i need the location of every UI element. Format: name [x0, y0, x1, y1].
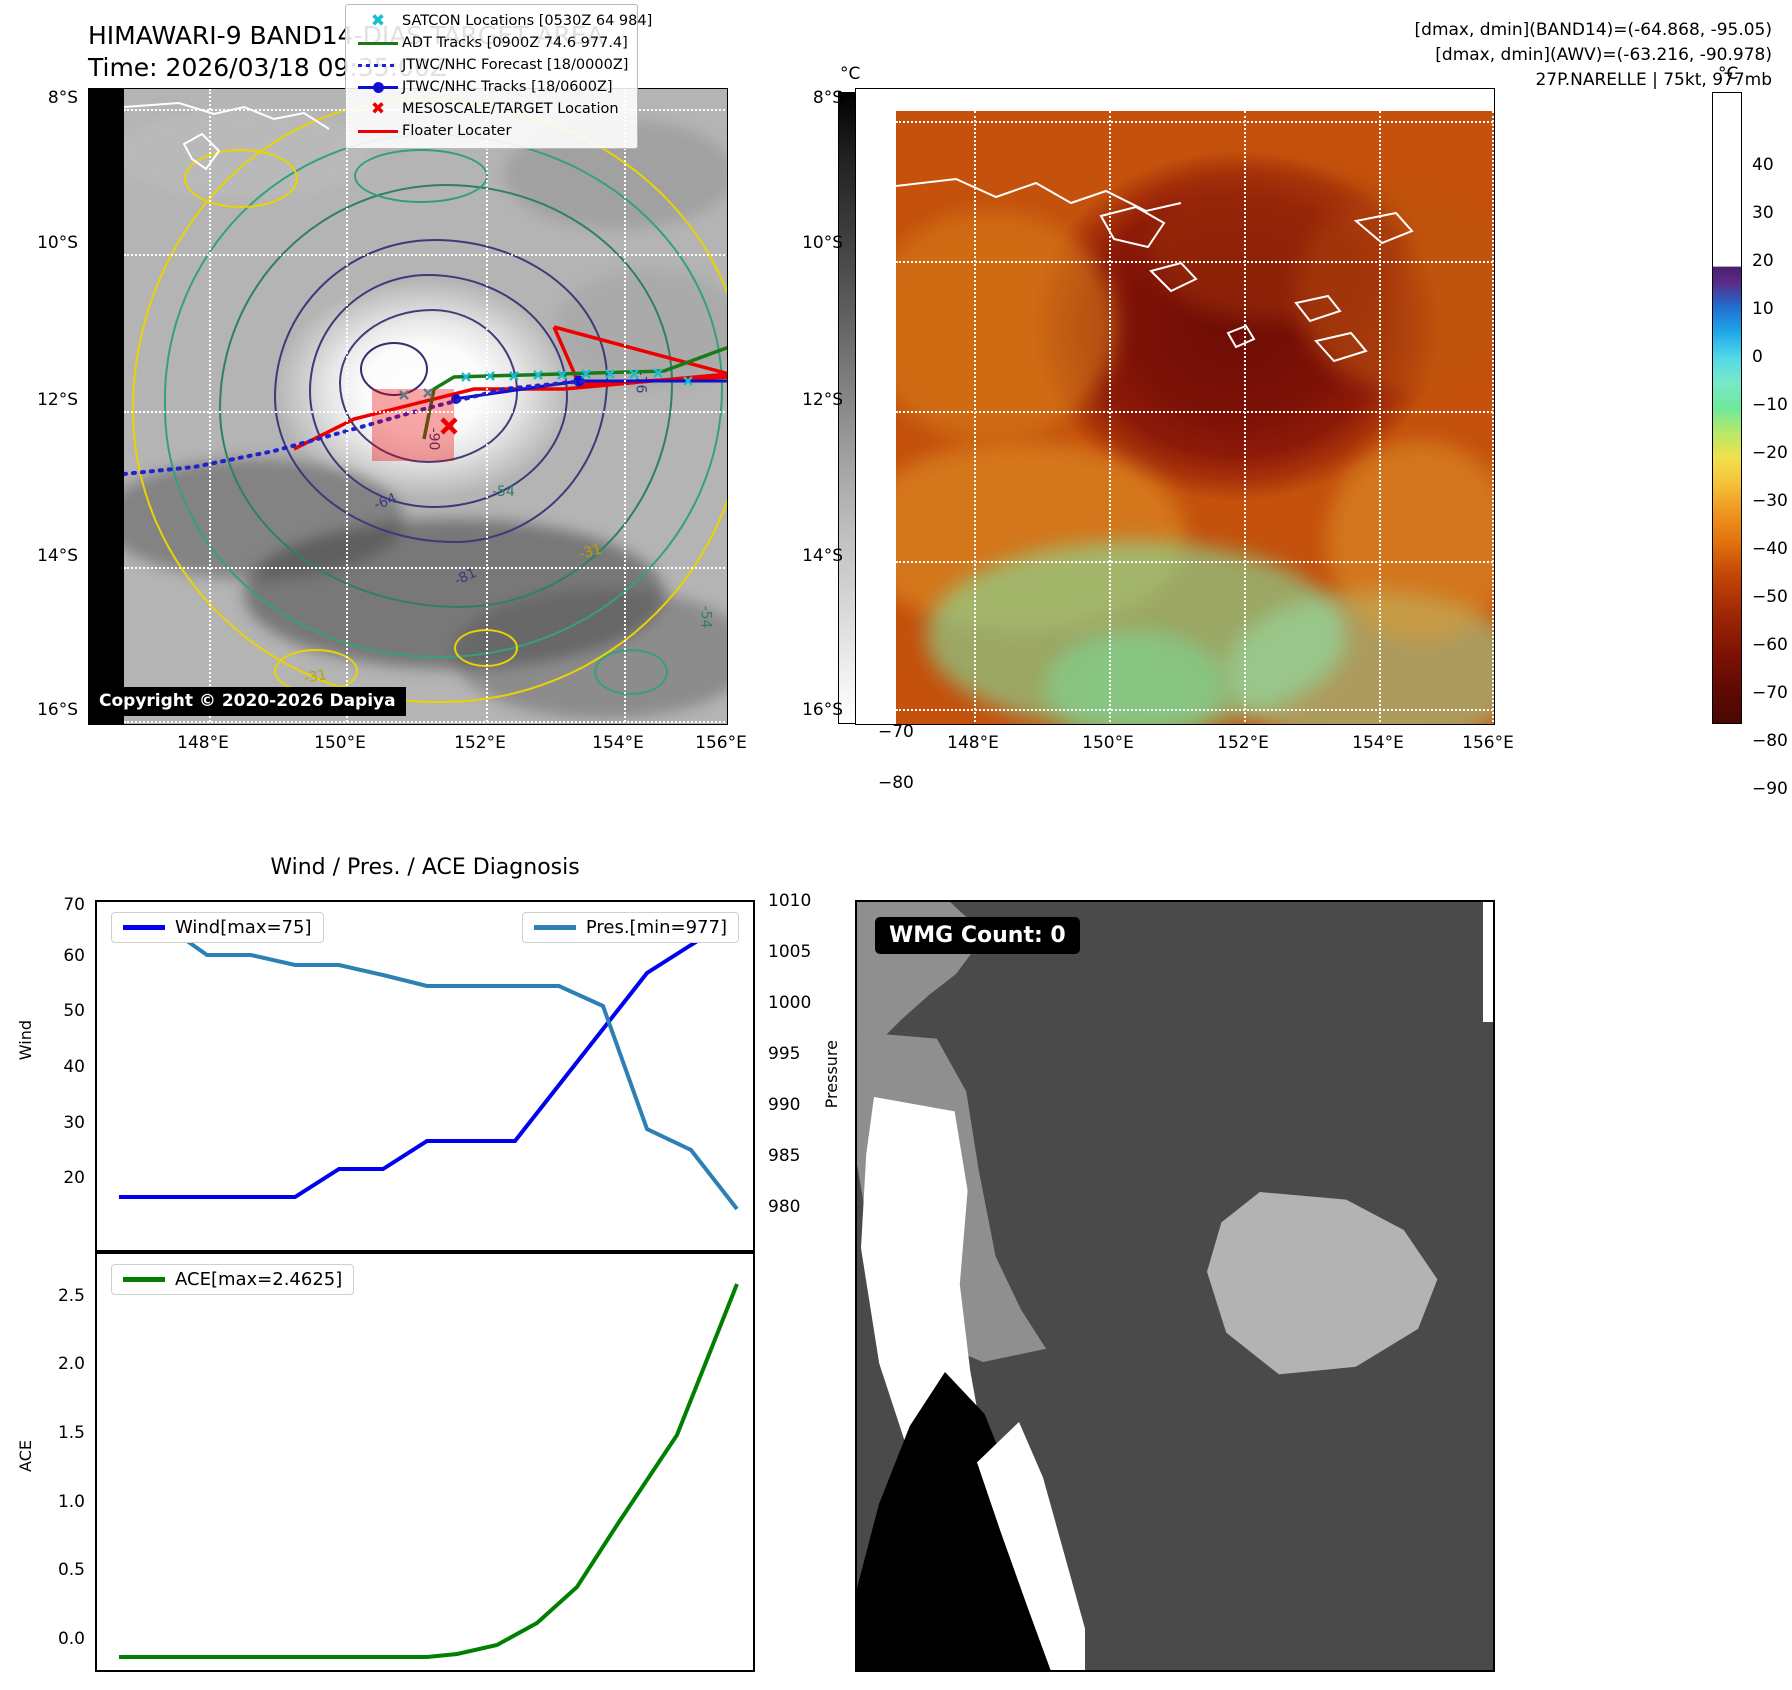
jtwc-forecast-path — [124, 381, 584, 474]
wind-legend[interactable]: Wind[max=75] — [111, 912, 324, 943]
tr-lon-148e: 148°E — [928, 733, 1018, 753]
ace-legend-label: ACE[max=2.4625] — [175, 1269, 342, 1290]
ace-legend[interactable]: ACE[max=2.4625] — [111, 1264, 354, 1295]
wind-axis-label: Wind — [16, 1020, 35, 1060]
map-legend[interactable]: ✖ SATCON Locations [0530Z 64 984] ADT Tr… — [345, 4, 638, 149]
legend-label-adt: ADT Tracks [0900Z 74.6 977.4] — [402, 35, 628, 51]
ace-tick-2-5: 2.5 — [30, 1286, 85, 1306]
ace-color-swatch — [123, 1277, 165, 1282]
dotted-line-icon — [354, 64, 402, 67]
enhanced-ir-image — [896, 111, 1495, 725]
tr-lon-150e: 150°E — [1063, 733, 1153, 753]
wind-color-swatch — [123, 925, 165, 930]
tl-lon-150e: 150°E — [295, 733, 385, 753]
legend-item-satcon[interactable]: ✖ SATCON Locations [0530Z 64 984] — [354, 10, 629, 32]
ace-chart[interactable]: ACE[max=2.4625] — [95, 1252, 755, 1672]
tl-lat-10s: 10°S — [10, 233, 78, 253]
legend-item-adt[interactable]: ADT Tracks [0900Z 74.6 977.4] — [354, 32, 629, 54]
tl-lon-152e: 152°E — [435, 733, 525, 753]
tr-cb-40: 40 — [1752, 155, 1774, 175]
pres-tick-1000: 1000 — [768, 993, 811, 1013]
tl-lat-12s: 12°S — [10, 390, 78, 410]
wind-tick-20: 20 — [30, 1168, 85, 1188]
coastline-overlay-ir — [896, 111, 1495, 725]
wmg-count-badge: WMG Count: 0 — [875, 917, 1080, 954]
solid-line-icon — [354, 42, 402, 45]
ace-axis-label: ACE — [16, 1440, 35, 1472]
tr-cb-0: 0 — [1752, 347, 1763, 367]
ace-series-line — [119, 1284, 737, 1657]
pressure-legend[interactable]: Pres.[min=977] — [522, 912, 739, 943]
tr-colorbar-unit: °C — [1718, 64, 1738, 84]
ace-tick-2-0: 2.0 — [30, 1354, 85, 1374]
legend-item-floater[interactable]: Floater Locater — [354, 120, 629, 142]
pres-tick-980: 980 — [768, 1197, 800, 1217]
wind-pressure-chart[interactable]: Wind[max=75] Pres.[min=977] — [95, 900, 755, 1252]
tl-cb-m70: −70 — [878, 722, 914, 742]
target-area-box — [372, 389, 454, 461]
legend-label-satcon: SATCON Locations [0530Z 64 984] — [402, 13, 652, 29]
legend-label-forecast: JTWC/NHC Forecast [18/0000Z] — [402, 57, 628, 73]
dashboard-root: HIMAWARI-9 BAND14-DIAS TARGET AREA Time:… — [0, 0, 1792, 1690]
wind-tick-40: 40 — [30, 1057, 85, 1077]
tr-lon-154e: 154°E — [1333, 733, 1423, 753]
line-with-dot-icon — [354, 86, 402, 89]
wind-tick-70: 70 — [30, 895, 85, 915]
tr-lon-156e: 156°E — [1443, 733, 1533, 753]
tr-lat-14s: 14°S — [775, 546, 843, 566]
tl-lat-14s: 14°S — [10, 546, 78, 566]
ace-tick-1-0: 1.0 — [30, 1492, 85, 1512]
ir-grayscale-image: -76 -81 -90 -64 -54 -31 -31 -54 — [124, 89, 728, 725]
ace-tick-0-0: 0.0 — [30, 1629, 85, 1649]
header-dmax-awv: [dmax, dmin](AWV)=(-63.216, -90.978) — [1435, 45, 1772, 65]
tr-cb-m10: −10 — [1752, 395, 1788, 415]
enhanced-ir-map[interactable] — [855, 88, 1495, 725]
tl-lon-154e: 154°E — [573, 733, 663, 753]
legend-item-mesoscale[interactable]: ✖ MESOSCALE/TARGET Location — [354, 98, 629, 120]
tr-cb-m30: −30 — [1752, 491, 1788, 511]
tr-lat-12s: 12°S — [775, 390, 843, 410]
solid-line-red-icon — [354, 130, 402, 133]
wind-legend-label: Wind[max=75] — [175, 917, 312, 938]
wmg-panel[interactable]: WMG Count: 0 — [855, 900, 1495, 1672]
wmg-gray-region-right — [1207, 1192, 1447, 1382]
pressure-color-swatch — [534, 925, 576, 930]
pres-tick-1005: 1005 — [768, 942, 811, 962]
tr-cb-30: 30 — [1752, 203, 1774, 223]
himawari-band14-map[interactable]: -76 -81 -90 -64 -54 -31 -31 -54 — [88, 88, 728, 725]
tr-cb-m60: −60 — [1752, 635, 1788, 655]
tr-cb-20: 20 — [1752, 251, 1774, 271]
tr-cb-m80: −80 — [1752, 731, 1788, 751]
tl-colorbar-unit: °C — [840, 64, 860, 84]
pres-tick-1010: 1010 — [768, 891, 811, 911]
pres-tick-990: 990 — [768, 1095, 800, 1115]
tl-cb-m80: −80 — [878, 773, 914, 793]
wind-tick-30: 30 — [30, 1113, 85, 1133]
legend-item-forecast[interactable]: JTWC/NHC Forecast [18/0000Z] — [354, 54, 629, 76]
pres-tick-995: 995 — [768, 1044, 800, 1064]
tr-cb-m90: −90 — [1752, 779, 1788, 799]
wmg-scrollbar-notch — [1483, 902, 1495, 1022]
tr-cb-m20: −20 — [1752, 443, 1788, 463]
wind-tick-60: 60 — [30, 946, 85, 966]
tr-lat-16s: 16°S — [775, 700, 843, 720]
tr-cb-m40: −40 — [1752, 539, 1788, 559]
tr-lon-152e: 152°E — [1198, 733, 1288, 753]
tl-lat-8s: 8°S — [10, 88, 78, 108]
header-dmax-band14: [dmax, dmin](BAND14)=(-64.868, -95.05) — [1415, 20, 1772, 40]
tr-lat-8s: 8°S — [775, 88, 843, 108]
tr-cb-m50: −50 — [1752, 587, 1788, 607]
diagnosis-title: Wind / Pres. / ACE Diagnosis — [95, 855, 755, 880]
legend-label-mesoscale: MESOSCALE/TARGET Location — [402, 101, 619, 117]
legend-item-tracks[interactable]: JTWC/NHC Tracks [18/0600Z] — [354, 76, 629, 98]
legend-label-floater: Floater Locater — [402, 123, 511, 139]
pressure-series-line — [119, 914, 737, 1209]
tr-cb-m70: −70 — [1752, 683, 1788, 703]
legend-label-tracks: JTWC/NHC Tracks [18/0600Z] — [402, 79, 613, 95]
tl-lon-148e: 148°E — [158, 733, 248, 753]
tr-lat-10s: 10°S — [775, 233, 843, 253]
wind-series-line — [119, 917, 737, 1197]
wind-tick-50: 50 — [30, 1001, 85, 1021]
pres-tick-985: 985 — [768, 1146, 800, 1166]
pressure-legend-label: Pres.[min=977] — [586, 917, 727, 938]
ace-tick-1-5: 1.5 — [30, 1423, 85, 1443]
x-marker-red-icon: ✖ — [354, 101, 402, 118]
tr-cb-10: 10 — [1752, 299, 1774, 319]
storm-tracks-overlay — [124, 89, 728, 725]
wind-pressure-plot — [97, 902, 753, 1250]
ace-plot — [97, 1254, 753, 1670]
tl-lat-16s: 16°S — [10, 700, 78, 720]
pressure-axis-label: Pressure — [822, 1040, 841, 1108]
copyright-badge: Copyright © 2020-2026 Dapiya — [89, 687, 406, 716]
tl-lon-156e: 156°E — [676, 733, 766, 753]
x-marker-icon: ✖ — [354, 13, 402, 30]
ace-tick-0-5: 0.5 — [30, 1560, 85, 1580]
